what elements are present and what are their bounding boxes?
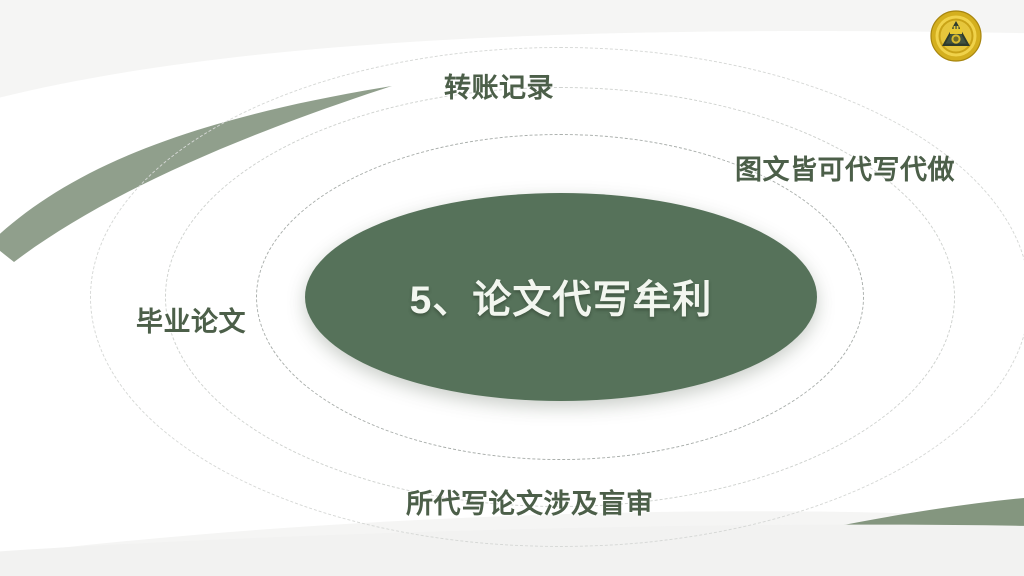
label-text-and-image-ghostwriting: 图文皆可代写代做 (735, 148, 955, 187)
slide-canvas: 5、论文代写牟利 转账记录 图文皆可代写代做 毕业论文 所代写论文涉及盲审 (0, 0, 1024, 576)
label-transfer-records: 转账记录 (444, 66, 554, 105)
center-ellipse: 5、论文代写牟利 (305, 193, 817, 401)
label-blind-review: 所代写论文涉及盲审 (406, 482, 654, 521)
center-title: 5、论文代写牟利 (305, 193, 817, 401)
label-graduation-thesis: 毕业论文 (136, 300, 246, 339)
organization-emblem-icon (929, 9, 983, 63)
